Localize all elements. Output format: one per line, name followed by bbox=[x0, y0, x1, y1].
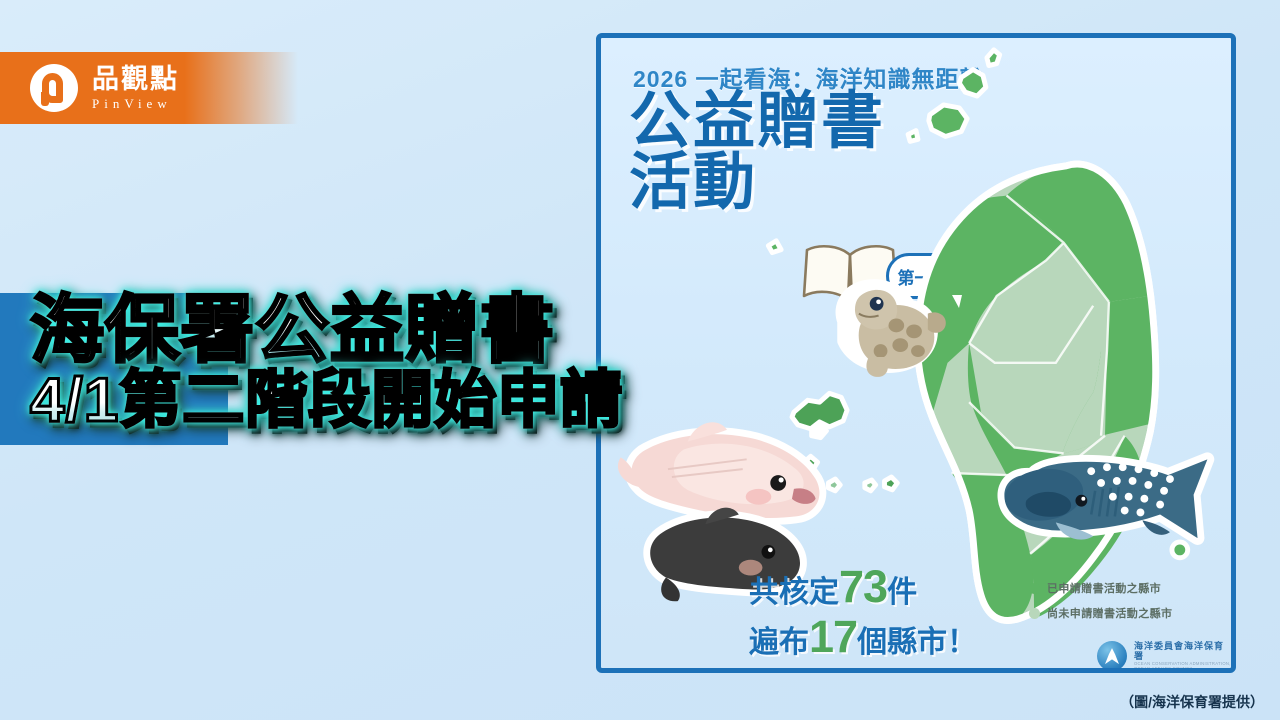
stat-suffix: 個縣市！ bbox=[857, 626, 977, 659]
campaign-poster: 2026 一起看海：海洋知識無距離 公益贈書 活動 第一波！！ bbox=[596, 33, 1236, 673]
legend-dot-not-applied-icon bbox=[1029, 608, 1040, 619]
legend-item-not-applied: 尚未申請贈書活動之縣市 bbox=[1029, 605, 1172, 621]
kinmen-islands bbox=[768, 241, 781, 253]
headline: 海保署公益贈書 4/1第二階段開始申請 bbox=[30, 292, 623, 434]
map-legend: 已申請贈書活動之縣市 尚未申請贈書活動之縣市 bbox=[1029, 580, 1172, 630]
stat-suffix: 件 bbox=[887, 576, 917, 609]
stat-prefix: 共核定 bbox=[749, 576, 839, 609]
ocean-conservation-administration-logo-icon bbox=[1097, 641, 1127, 671]
matsu-islands bbox=[908, 50, 1000, 142]
pink-dolphin-illustration bbox=[618, 422, 820, 518]
stat-number: 73 bbox=[839, 561, 887, 612]
poster-stats: 共核定73件 遍布17個縣市！ bbox=[749, 562, 977, 663]
stat-row: 遍布17個縣市！ bbox=[749, 612, 977, 662]
pinview-logo-bar: 品觀點 PinView bbox=[0, 52, 298, 124]
brand-name-en: PinView bbox=[92, 97, 179, 110]
legend-item-applied: 已申請贈書活動之縣市 bbox=[1029, 580, 1172, 596]
legend-label: 已申請贈書活動之縣市 bbox=[1047, 580, 1161, 596]
headline-line-1: 海保署公益贈書 bbox=[30, 292, 623, 367]
agency-logo: 海洋委員會海洋保育署 OCEAN CONSERVATION ADMINISTRA… bbox=[1097, 641, 1231, 671]
agency-logo-text: 海洋委員會海洋保育署 OCEAN CONSERVATION ADMINISTRA… bbox=[1134, 641, 1231, 671]
stat-prefix: 遍布 bbox=[749, 626, 809, 659]
agency-name-en: OCEAN CONSERVATION ADMINISTRATION, OCEAN… bbox=[1134, 662, 1231, 672]
taiwan-main-island bbox=[917, 164, 1155, 620]
pinview-logo-text: 品觀點 PinView bbox=[92, 66, 179, 110]
pinview-p-logo-icon bbox=[30, 64, 78, 112]
image-credit-caption: （圖/海洋保育署提供） bbox=[1120, 692, 1264, 712]
whale-shark-illustration bbox=[1001, 459, 1207, 539]
brand-name-cn: 品觀點 bbox=[92, 66, 179, 93]
legend-dot-applied-icon bbox=[1029, 583, 1040, 594]
headline-line-2: 4/1第二階段開始申請 bbox=[30, 369, 623, 433]
legend-label: 尚未申請贈書活動之縣市 bbox=[1047, 605, 1172, 621]
stat-row: 共核定73件 bbox=[749, 562, 977, 612]
stat-number: 17 bbox=[809, 611, 857, 662]
agency-name-cn: 海洋委員會海洋保育署 bbox=[1134, 641, 1231, 662]
